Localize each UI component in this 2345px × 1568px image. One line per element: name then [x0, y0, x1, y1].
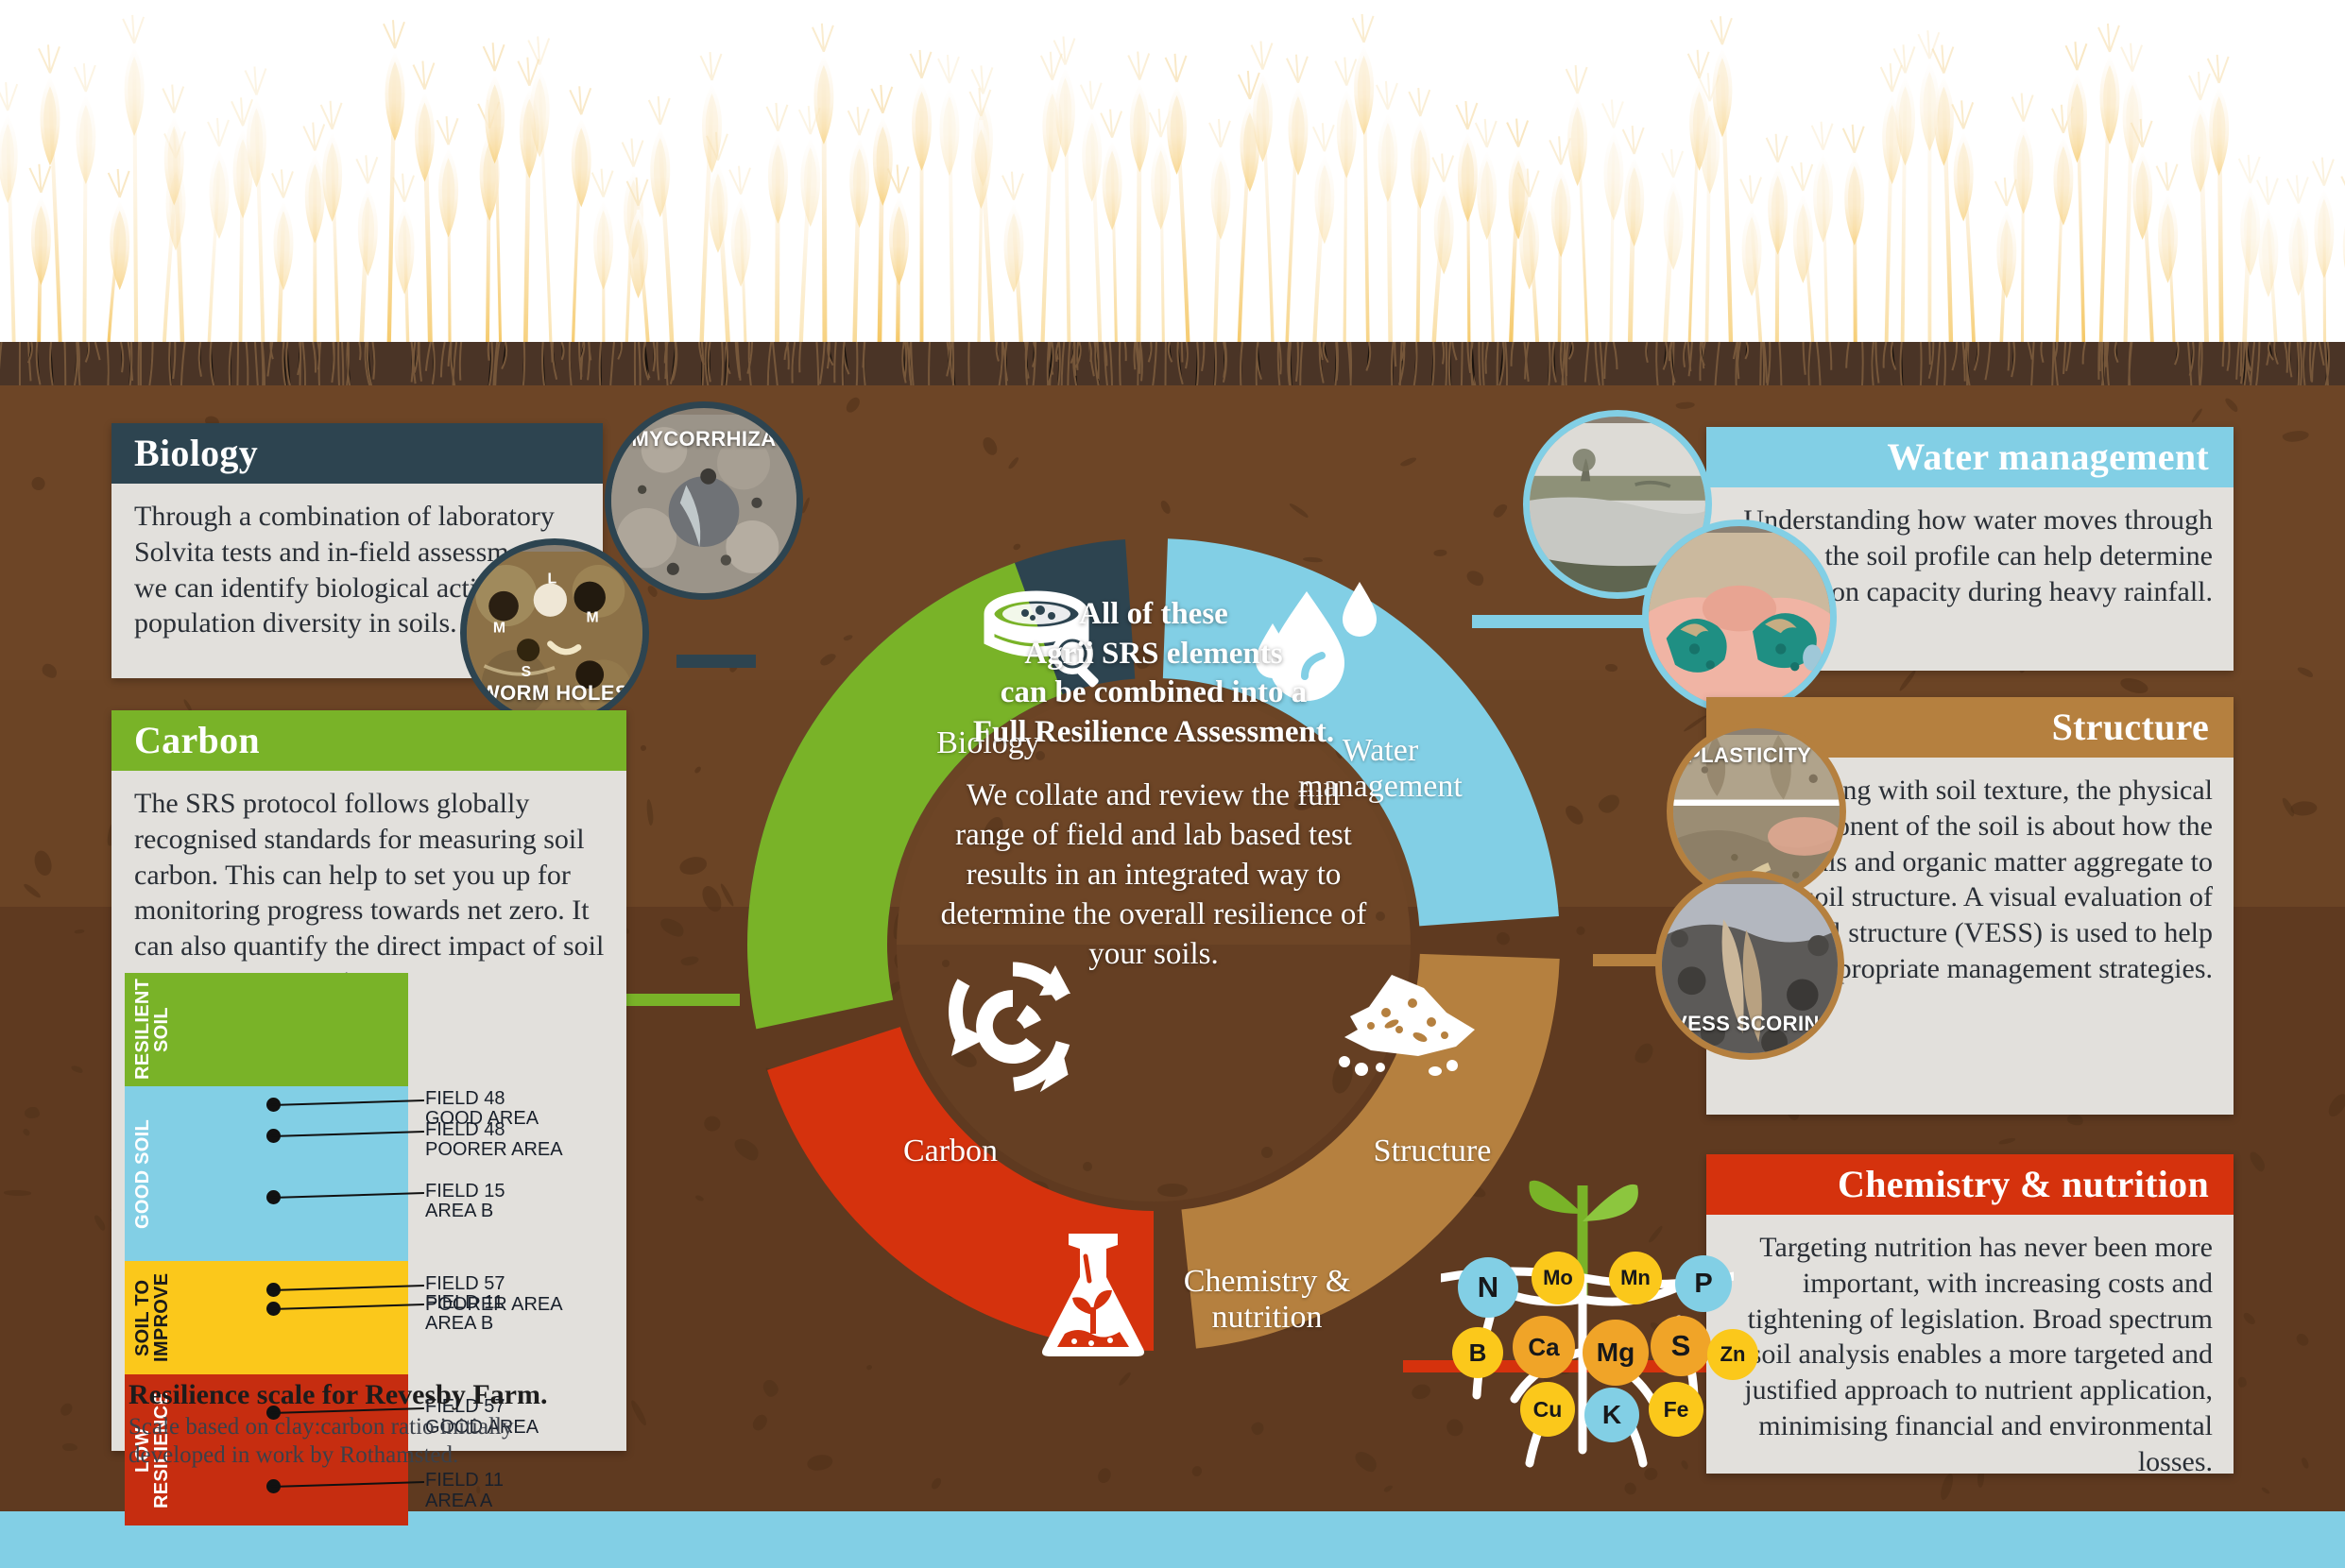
scale-band-2: SOIL TO IMPROVE — [125, 1261, 408, 1374]
panel-chemistry-body: Targeting nutrition has never been more … — [1706, 1215, 2234, 1499]
infographic-canvas: Biology Through a combination of laborat… — [0, 0, 2345, 1568]
photo-plasticity-caption: PLASTICITY — [1673, 743, 1840, 768]
donut-center-bold: All of these Agrii SRS elements can be c… — [932, 595, 1376, 752]
svg-text:S: S — [522, 664, 532, 680]
wheat-field-illustration — [0, 0, 2345, 364]
scale-point-label: FIELD 11 AREA B — [425, 1293, 504, 1334]
resilience-scale-chart: RESILIENT SOIL GOOD SOIL SOIL TO IMPROVE… — [125, 973, 616, 1370]
nutrient-bubble-S[interactable]: S — [1651, 1316, 1711, 1376]
scale-band-1: GOOD SOIL — [125, 1086, 408, 1261]
soil-pile-icon — [1333, 971, 1484, 1089]
photo-vess-caption: VESS SCORING — [1662, 1012, 1838, 1036]
nutrient-bubble-Zn[interactable]: Zn — [1707, 1329, 1758, 1380]
photo-mycorrhiza-caption: MYCORRHIZA — [611, 427, 796, 452]
panel-biology-title: Biology — [111, 423, 603, 484]
donut-center-text: All of these Agrii SRS elements can be c… — [932, 595, 1376, 975]
donut-label-carbon[interactable]: Carbon — [832, 1133, 1069, 1169]
panel-chemistry-title: Chemistry & nutrition — [1706, 1154, 2234, 1215]
panel-carbon: Carbon The SRS protocol follows globally… — [111, 710, 626, 1451]
svg-text:M: M — [586, 609, 598, 625]
photo-worm-holes-caption: WORM HOLES — [467, 681, 642, 706]
photo-soil-in-hands — [1642, 520, 1837, 714]
scale-point-label: FIELD 15 AREA B — [425, 1182, 505, 1222]
scale-point-label: FIELD 48 POORER AREA — [425, 1120, 563, 1161]
donut-label-chemistry[interactable]: Chemistry & nutrition — [1125, 1264, 1409, 1336]
srs-donut-wheel: Biology Water management Structure Chemi… — [681, 472, 1626, 1417]
donut-label-structure[interactable]: Structure — [1314, 1133, 1550, 1169]
nutrient-bubble-Fe[interactable]: Fe — [1649, 1382, 1703, 1437]
scale-caption-sub: Scale based on clay:carbon ratio initial… — [128, 1413, 554, 1470]
wheat-svg — [0, 0, 2345, 364]
nutrient-bubble-P[interactable]: P — [1675, 1255, 1732, 1312]
scale-point-label: FIELD 11 AREA A — [425, 1471, 504, 1511]
panel-chemistry: Chemistry & nutrition Targeting nutritio… — [1706, 1154, 2234, 1474]
panel-carbon-title: Carbon — [111, 710, 626, 771]
svg-text:L: L — [548, 571, 557, 587]
scale-band-label: GOOD SOIL — [133, 1093, 152, 1254]
scale-band-label: RESILIENT SOIL — [133, 980, 171, 1080]
panel-water-title: Water management — [1706, 427, 2234, 487]
soil-speck — [62, 1443, 77, 1451]
photo-vess-scoring: VESS SCORING — [1655, 871, 1844, 1060]
carbon-cycle-icon — [942, 956, 1084, 1102]
donut-center-body: We collate and review the full range of … — [932, 776, 1376, 975]
soil-in-hands-image — [1649, 526, 1830, 714]
soil-speck — [4, 1190, 32, 1196]
scale-caption-title: Resilience scale for Revesby Farm. — [128, 1379, 547, 1411]
scale-band-label: SOIL TO IMPROVE — [133, 1268, 171, 1368]
svg-text:M: M — [493, 621, 505, 637]
scale-band-0: RESILIENT SOIL — [125, 973, 408, 1086]
photo-worm-holes: M L M S WORM HOLES — [460, 538, 649, 727]
